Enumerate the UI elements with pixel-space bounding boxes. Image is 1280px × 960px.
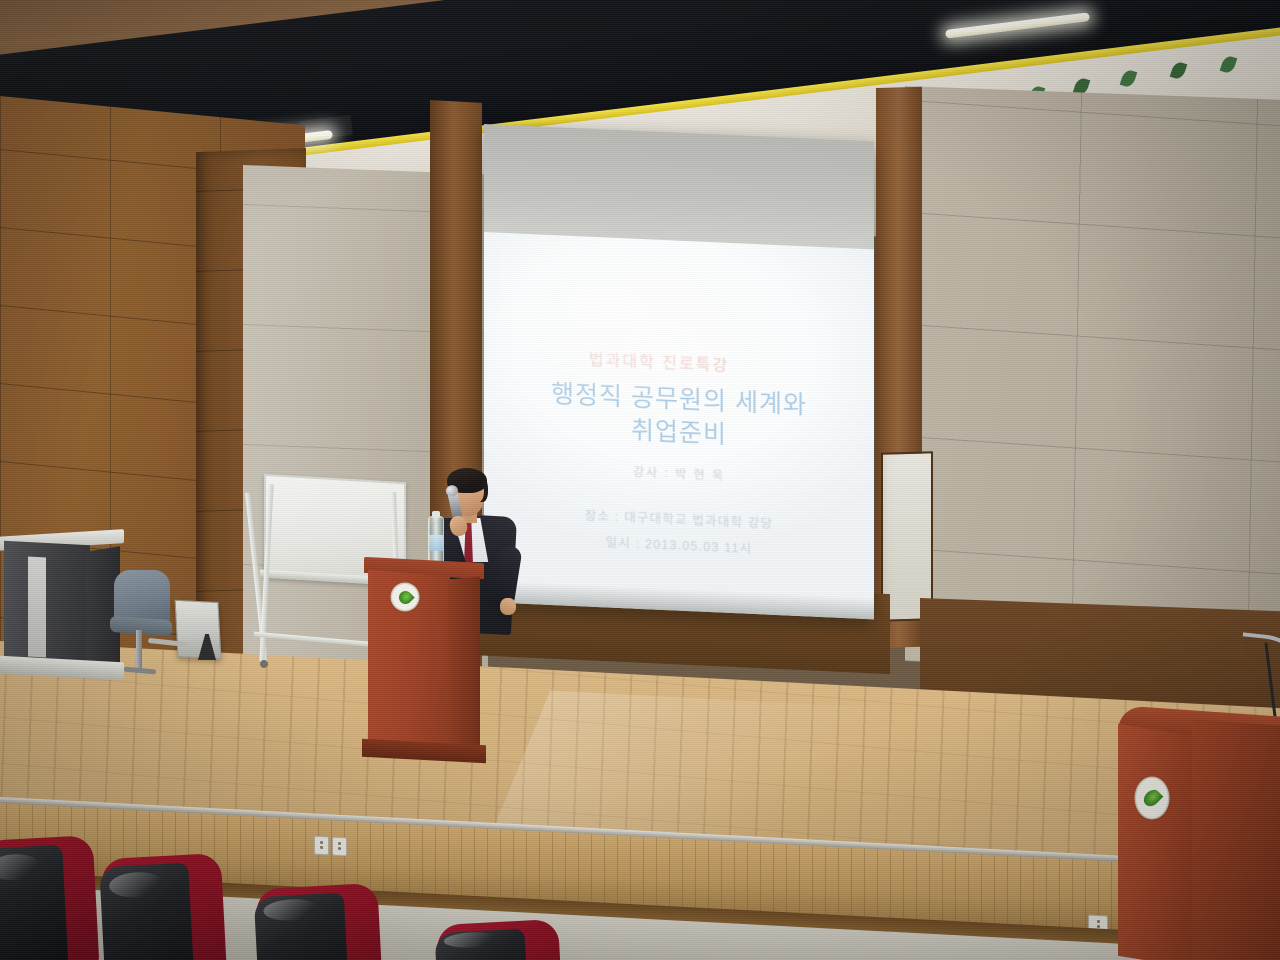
emblem-leaf-icon <box>1141 787 1164 810</box>
emblem-leaf-icon <box>396 588 414 606</box>
podium-side-face <box>1192 720 1280 960</box>
screen-unlit-area <box>484 124 874 251</box>
right-hand <box>500 598 516 615</box>
water-bottle[interactable] <box>428 516 444 566</box>
auditorium-seat[interactable] <box>101 853 227 960</box>
auditorium-seat[interactable] <box>255 883 382 960</box>
floor-monitor-panel[interactable] <box>175 600 222 660</box>
lectern-front-face <box>4 541 90 670</box>
auditorium-scene: 법과대학 진로특강 행정직 공무원의 세계와 취업준비 강사 : 박 현 욱 장… <box>0 0 1280 960</box>
podium-side-face <box>448 577 480 752</box>
slide-speaker-text: 강사 : 박 현 욱 <box>484 456 874 490</box>
hair-side <box>475 476 488 502</box>
stage-chair[interactable] <box>106 570 176 680</box>
lectern-accent-stripe <box>28 557 46 658</box>
auditorium-seat[interactable] <box>436 919 562 960</box>
bottle-label <box>429 535 443 551</box>
speaker-podium[interactable] <box>368 560 480 758</box>
auditorium-seat[interactable] <box>0 835 99 960</box>
whiteboard-wheel <box>260 660 268 668</box>
wall-power-outlet[interactable] <box>332 837 347 857</box>
foreground-podium[interactable] <box>1118 706 1280 960</box>
wall-power-outlet[interactable] <box>314 836 329 856</box>
chair-base <box>124 667 156 675</box>
bottle-cap <box>432 511 440 518</box>
university-emblem <box>1136 778 1168 818</box>
university-emblem <box>392 584 418 610</box>
projected-slide: 법과대학 진로특강 행정직 공무원의 세계와 취업준비 강사 : 박 현 욱 장… <box>484 232 874 620</box>
right-acoustic-panel-wall <box>905 86 1280 676</box>
control-lectern[interactable] <box>0 533 122 685</box>
projection-screen[interactable]: 법과대학 진로특강 행정직 공무원의 세계와 취업준비 강사 : 박 현 욱 장… <box>484 124 874 619</box>
podium-front-face <box>1118 724 1196 960</box>
chair-post <box>136 630 142 672</box>
